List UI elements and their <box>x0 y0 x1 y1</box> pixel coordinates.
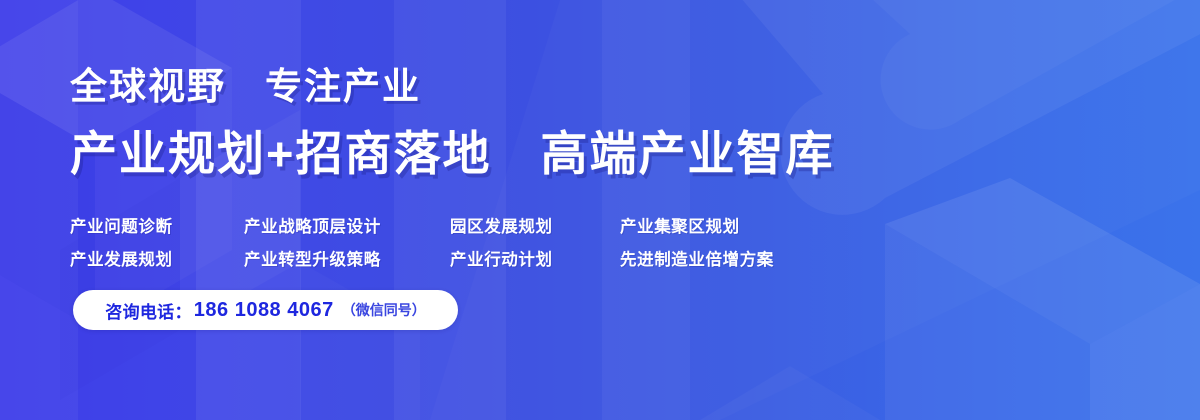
contact-phone-button[interactable]: 咨询电话： 186 1088 4067 （微信同号） <box>73 290 458 330</box>
service-tag-list: 产业问题诊断 产业战略顶层设计 园区发展规划 产业集聚区规划 产业发展规划 产业… <box>70 208 830 274</box>
service-tag[interactable]: 先进制造业倍增方案 <box>620 246 774 270</box>
service-tag[interactable]: 园区发展规划 <box>450 213 620 237</box>
contact-phone-note: （微信同号） <box>342 300 426 320</box>
banner-content: 全球视野 专注产业 产业规划+招商落地 高端产业智库 产业问题诊断 产业战略顶层… <box>0 0 1200 420</box>
service-tag[interactable]: 产业战略顶层设计 <box>244 213 450 237</box>
service-tag[interactable]: 产业转型升级策略 <box>244 246 450 270</box>
contact-phone-number: 186 1088 4067 <box>194 299 334 322</box>
contact-phone-label: 咨询电话： <box>105 298 192 323</box>
service-tag[interactable]: 产业发展规划 <box>70 246 244 270</box>
service-tag[interactable]: 产业行动计划 <box>450 246 620 270</box>
service-tag[interactable]: 产业集聚区规划 <box>620 213 740 237</box>
page-subtitle: 产业规划+招商落地 高端产业智库 <box>70 130 834 177</box>
promo-banner: 全球视野 专注产业 产业规划+招商落地 高端产业智库 产业问题诊断 产业战略顶层… <box>0 0 1200 420</box>
service-tag-row-2: 产业发展规划 产业转型升级策略 产业行动计划 先进制造业倍增方案 <box>70 241 830 274</box>
service-tag-row-1: 产业问题诊断 产业战略顶层设计 园区发展规划 产业集聚区规划 <box>70 208 830 241</box>
service-tag[interactable]: 产业问题诊断 <box>70 213 244 237</box>
page-title: 全球视野 专注产业 <box>70 68 421 105</box>
